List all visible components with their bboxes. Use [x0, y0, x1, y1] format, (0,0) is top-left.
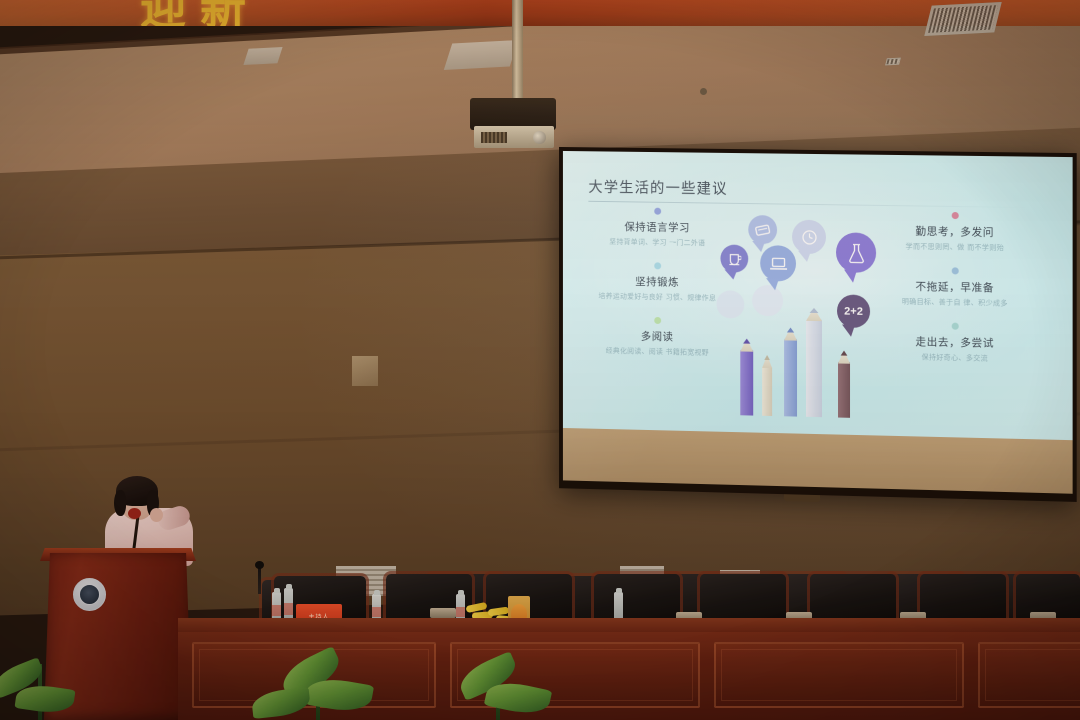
pencil — [806, 319, 822, 417]
cup-glyph — [727, 252, 741, 266]
chair — [810, 574, 896, 624]
bubble-tail — [752, 241, 765, 252]
pencil — [740, 349, 753, 415]
bottle-cap — [274, 588, 280, 593]
bullet-dot-icon — [951, 323, 958, 330]
microphone-base — [430, 608, 456, 618]
projection-screen: 大学生活的一些建议 保持语言学习 坚持背单词、学习 一门二外语 坚持锻炼 培养运… — [559, 147, 1077, 502]
advice-body: 坚持背单词、学习 一门二外语 — [594, 237, 720, 249]
advice-heading: 不拖延，早准备 — [890, 278, 1019, 295]
potted-plant — [0, 640, 110, 720]
bottle-cap — [286, 584, 292, 589]
clock-glyph — [801, 228, 818, 245]
presentation-slide: 大学生活的一些建议 保持语言学习 坚持背单词、学习 一门二外语 坚持锻炼 培养运… — [563, 151, 1073, 440]
advice-body: 经典化阅读、阅读 书籍拓宽视野 — [594, 346, 720, 359]
blank-icon — [716, 290, 744, 318]
clock-icon — [792, 220, 826, 255]
advice-body: 培养运动爱好与良好 习惯、规律作息 — [594, 291, 720, 303]
pencil-nib — [806, 308, 822, 313]
university-crest — [73, 578, 106, 611]
bottle-label — [284, 603, 293, 615]
advice-heading: 坚持锻炼 — [594, 273, 720, 290]
chair — [920, 574, 1006, 624]
slide-left-column: 保持语言学习 坚持背单词、学习 一门二外语 坚持锻炼 培养运动爱好与良好 习惯、… — [594, 207, 720, 374]
potted-plant — [246, 630, 396, 720]
bullet-dot-icon — [951, 267, 958, 274]
bubble-tail — [724, 269, 737, 279]
plant-leaf — [251, 687, 311, 719]
projector-mount-pole — [512, 0, 523, 108]
advice-item: 勤思考，多发问 学而不思则罔、做 而不学则殆 — [890, 211, 1019, 253]
presenter-hand — [150, 508, 163, 522]
lecture-hall-photo: 迎新 大学生活的一些建议 保持语言学习 — [0, 0, 1080, 720]
pencil-nib — [838, 350, 850, 355]
bubble-tail — [798, 251, 811, 262]
podium-microphone-head — [128, 508, 141, 519]
advice-item: 多阅读 经典化阅读、阅读 书籍拓宽视野 — [594, 316, 720, 358]
welcome-banner: 迎新 — [0, 0, 1080, 26]
slide-artwork: 2+2 — [711, 210, 901, 418]
crest-inner — [79, 584, 100, 605]
pencil-nib — [762, 355, 772, 360]
bullet-dot-icon — [654, 208, 661, 215]
banner-text: 迎新 — [140, 0, 260, 26]
projector-vent — [481, 132, 507, 143]
ceiling-light-panel — [444, 40, 518, 70]
bottle-label — [272, 605, 281, 616]
desk-microphone — [258, 566, 261, 594]
laptop-glyph — [769, 256, 788, 271]
advice-heading: 多阅读 — [594, 328, 720, 345]
bubble-tail — [842, 325, 855, 337]
bubble-tail — [766, 278, 779, 290]
advice-heading: 走出去，多尝试 — [890, 334, 1019, 352]
table-panel — [714, 642, 964, 708]
pencil — [838, 361, 850, 417]
book-glyph — [755, 224, 770, 236]
laptop-icon — [760, 245, 796, 282]
advice-body: 明确目标、善于自 律、积少成多 — [890, 296, 1019, 309]
screen-blank-area — [563, 428, 1073, 494]
slide-right-column: 勤思考，多发问 学而不思则罔、做 而不学则殆 不拖延，早准备 明确目标、善于自 … — [890, 211, 1019, 380]
flask-icon — [836, 232, 876, 273]
advice-body: 学而不思则罔、做 而不学则殆 — [890, 241, 1019, 253]
chair — [700, 574, 786, 624]
advice-item: 保持语言学习 坚持背单词、学习 一门二外语 — [594, 207, 720, 249]
pencil-nib — [740, 339, 753, 344]
wall-access-panel — [352, 356, 378, 386]
bottle-cap — [458, 590, 464, 595]
chair — [594, 574, 680, 624]
ceiling-light-panel-small — [243, 47, 282, 65]
bubble-tail — [844, 269, 857, 282]
ceiling-spotlight — [700, 88, 707, 95]
flask-glyph — [847, 242, 866, 263]
advice-heading: 保持语言学习 — [594, 219, 720, 236]
bullet-dot-icon — [951, 212, 958, 219]
desk-microphone-head — [255, 561, 264, 569]
bottle-cap — [374, 590, 380, 595]
bottle-label — [456, 607, 465, 617]
projector-lens — [533, 131, 546, 144]
advice-heading: 勤思考，多发问 — [890, 223, 1019, 240]
pencil — [762, 366, 772, 416]
table-panel-inner — [985, 649, 1080, 701]
bullet-dot-icon — [654, 317, 661, 324]
bullet-dot-icon — [654, 262, 661, 269]
presenter-hair-left — [114, 490, 126, 516]
math-icon: 2+2 — [837, 294, 870, 328]
bottle-cap — [616, 588, 622, 593]
table-panel — [978, 642, 1080, 708]
screen-surface: 大学生活的一些建议 保持语言学习 坚持背单词、学习 一门二外语 坚持锻炼 培养运… — [563, 151, 1073, 494]
ceiling-sprinkler — [885, 58, 901, 66]
advice-body: 保持好奇心、多交流 — [890, 352, 1019, 365]
potted-plant — [430, 632, 580, 720]
book-icon — [748, 215, 777, 244]
table-panel-inner — [721, 649, 957, 701]
advice-item: 走出去，多尝试 保持好奇心、多交流 — [890, 322, 1019, 365]
pencil — [784, 338, 797, 416]
bottle-label — [372, 607, 381, 617]
advice-item: 不拖延，早准备 明确目标、善于自 律、积少成多 — [890, 266, 1019, 309]
screen-pull-handle — [784, 494, 820, 502]
ceiling-air-vent — [924, 2, 1001, 36]
slide-title: 大学生活的一些建议 — [588, 176, 727, 199]
advice-item: 坚持锻炼 培养运动爱好与良好 习惯、规律作息 — [594, 261, 720, 303]
pencil-nib — [784, 327, 797, 332]
